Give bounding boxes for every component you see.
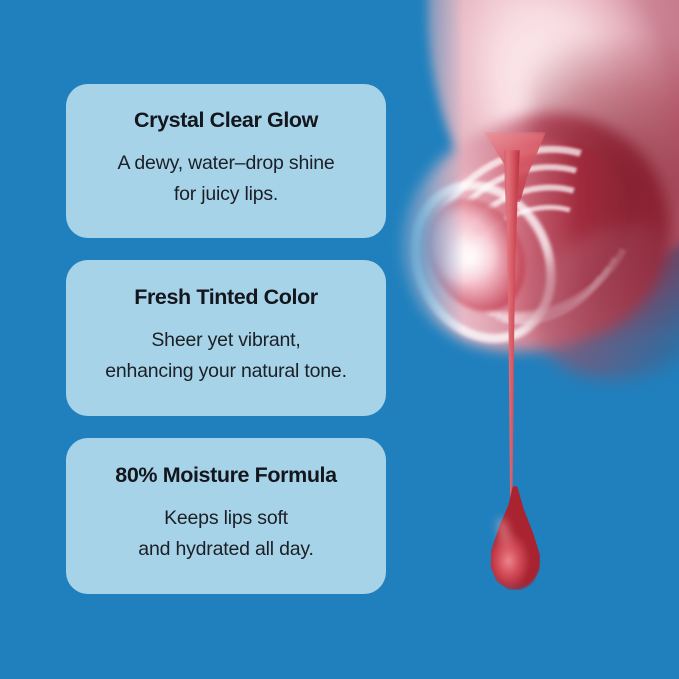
feature-card-body: Sheer yet vibrant, enhancing your natura… — [82, 325, 370, 387]
feature-card-fresh-tinted-color: Fresh Tinted Color Sheer yet vibrant, en… — [66, 260, 386, 416]
feature-card-body-line: A dewy, water–drop shine — [82, 148, 370, 179]
feature-card-moisture-formula: 80% Moisture Formula Keeps lips soft and… — [66, 438, 386, 594]
feature-card-title: Fresh Tinted Color — [82, 285, 370, 311]
product-feature-graphic: Crystal Clear Glow A dewy, water–drop sh… — [0, 0, 679, 679]
feature-card-body-line: and hydrated all day. — [82, 534, 370, 565]
feature-card-body-line: Keeps lips soft — [82, 503, 370, 534]
hanging-droplet — [488, 486, 542, 590]
feature-card-body-line: enhancing your natural tone. — [82, 356, 370, 387]
feature-card-body: Keeps lips soft and hydrated all day. — [82, 503, 370, 565]
feature-card-list: Crystal Clear Glow A dewy, water–drop sh… — [66, 84, 386, 616]
product-photo — [380, 0, 679, 679]
feature-card-crystal-clear-glow: Crystal Clear Glow A dewy, water–drop sh… — [66, 84, 386, 238]
feature-card-body-line: for juicy lips. — [82, 179, 370, 210]
feature-card-title: 80% Moisture Formula — [82, 463, 370, 489]
photo-bottom-feather — [380, 604, 679, 679]
feature-card-body: A dewy, water–drop shine for juicy lips. — [82, 148, 370, 210]
feature-card-title: Crystal Clear Glow — [82, 108, 370, 134]
feature-card-body-line: Sheer yet vibrant, — [82, 325, 370, 356]
